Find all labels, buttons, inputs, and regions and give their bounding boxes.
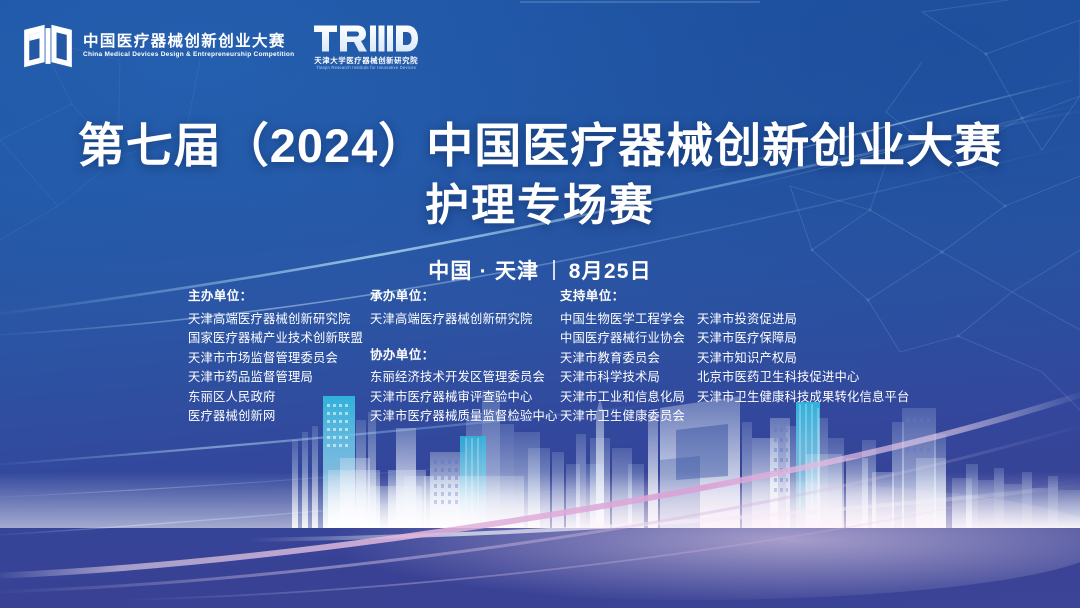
organiser-heading: 承办单位： <box>370 290 560 303</box>
triid-logo[interactable]: 天津大学医疗器械创新研究院 Tianjin Research Institute… <box>314 22 418 71</box>
list-item: 中国医疗器械行业协会 <box>560 329 697 349</box>
header-logos: 中国医疗器械创新创业大赛 China Medical Devices Desig… <box>22 22 418 71</box>
cmdc-name-cn: 中国医疗器械创新创业大赛 <box>83 34 290 50</box>
list-item: 天津市医疗保障局 <box>697 329 912 349</box>
supporter-heading: 支持单位： <box>560 290 697 303</box>
event-location: 中国 · 天津 <box>428 255 539 285</box>
cmdc-name-en: China Medical Devices Design & Entrepren… <box>83 52 294 58</box>
organisers-block: 主办单位： 天津高端医疗器械创新研究院 国家医疗器械产业技术创新联盟 天津市市场… <box>188 290 918 427</box>
list-item: 天津市医疗器械审评查验中心 <box>370 388 560 408</box>
cmdc-logo-text: 中国医疗器械创新创业大赛 China Medical Devices Desig… <box>83 34 290 59</box>
title-block: 第七届（2024）中国医疗器械创新创业大赛 护理专场赛 <box>0 118 1080 233</box>
list-item: 中国生物医学工程学会 <box>560 310 697 330</box>
list-item: 东丽区人民政府 <box>188 388 370 408</box>
list-item: 北京市医药卫生科技促进中心 <box>697 368 912 388</box>
event-date: 8月25日 <box>569 255 652 285</box>
triid-wordmark-icon <box>314 22 418 55</box>
triid-name-en: Tianjin Research Institute for Innovativ… <box>316 66 416 70</box>
triid-name-cn: 天津大学医疗器械创新研究院 <box>314 57 418 64</box>
list-item: 天津市医疗器械质量监督检验中心 <box>370 407 560 427</box>
list-item: 天津高端医疗器械创新研究院 <box>188 310 370 330</box>
list-item: 医疗器械创新网 <box>188 407 370 427</box>
organisers-column-supporter-a: 支持单位： 中国生物医学工程学会 中国医疗器械行业协会 天津市教育委员会 天津市… <box>560 290 697 427</box>
list-item: 天津市卫生健康委员会 <box>560 407 697 427</box>
list-item: 天津市知识产权局 <box>697 349 912 369</box>
list-item: 天津市教育委员会 <box>560 349 697 369</box>
open-book-door-logo-icon <box>22 23 74 69</box>
event-meta: 中国 · 天津 8月25日 <box>0 255 1080 285</box>
list-item: 天津市药品监督管理局 <box>188 368 370 388</box>
page-subtitle: 护理专场赛 <box>0 178 1080 233</box>
organisers-column-host: 主办单位： 天津高端医疗器械创新研究院 国家医疗器械产业技术创新联盟 天津市市场… <box>188 290 370 427</box>
organisers-column-organiser: 承办单位： 天津高端医疗器械创新研究院 协办单位： 东丽经济技术开发区管理委员会… <box>370 290 560 427</box>
list-item: 天津市市场监督管理委员会 <box>188 349 370 369</box>
list-item: 天津市科学技术局 <box>560 368 697 388</box>
list-item: 天津市卫生健康科技成果转化信息平台 <box>697 388 912 408</box>
organisers-column-supporter-b: 天津市投资促进局 天津市医疗保障局 天津市知识产权局 北京市医药卫生科技促进中心… <box>697 290 912 407</box>
list-item: 东丽经济技术开发区管理委员会 <box>370 368 560 388</box>
host-heading: 主办单位： <box>188 290 370 303</box>
co-organiser-heading: 协办单位： <box>370 349 560 362</box>
cmdc-logo[interactable]: 中国医疗器械创新创业大赛 China Medical Devices Desig… <box>22 23 290 69</box>
list-item: 天津市工业和信息化局 <box>560 388 697 408</box>
page-title: 第七届（2024）中国医疗器械创新创业大赛 <box>0 118 1080 174</box>
meta-divider <box>553 260 555 280</box>
event-poster: 中国医疗器械创新创业大赛 China Medical Devices Desig… <box>0 0 1080 608</box>
spacer <box>370 329 560 349</box>
list-item: 国家医疗器械产业技术创新联盟 <box>188 329 370 349</box>
list-item: 天津高端医疗器械创新研究院 <box>370 310 560 330</box>
list-item: 天津市投资促进局 <box>697 310 912 330</box>
